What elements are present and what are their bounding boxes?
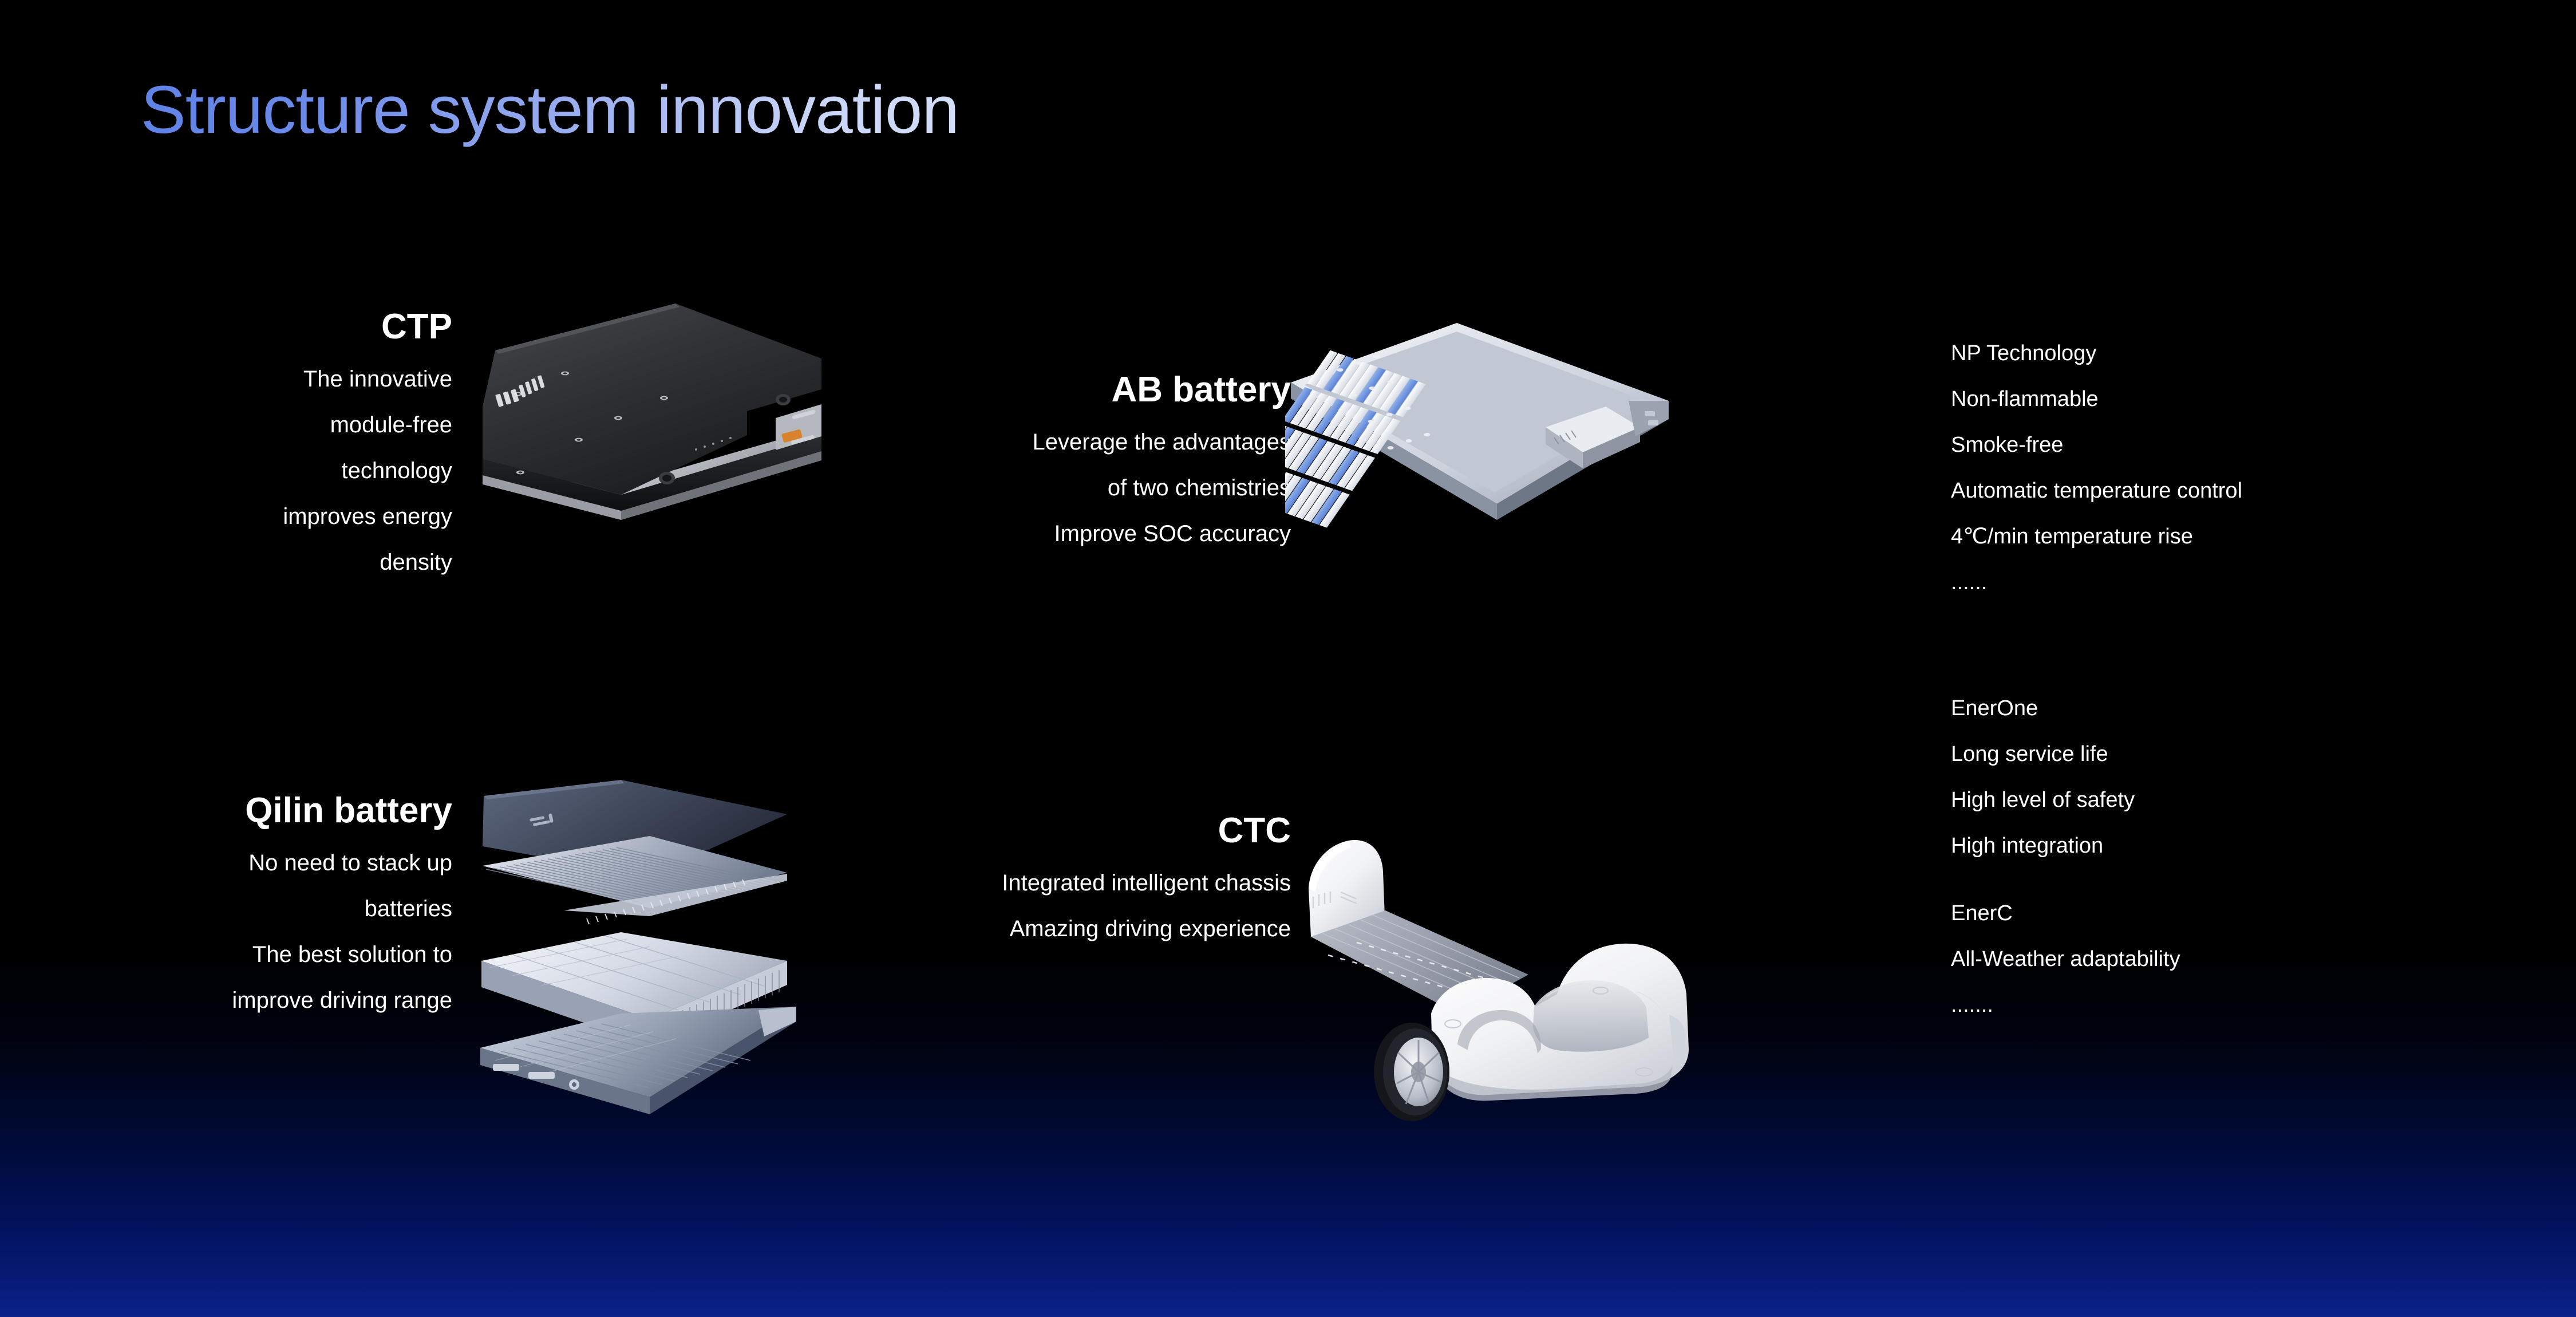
section-ab-battery-line-3: Improve SOC accuracy — [776, 522, 1291, 545]
section-ctc-line-2: Amazing driving experience — [776, 917, 1291, 940]
section-qilin-battery-line-2: batteries — [0, 897, 452, 920]
feature-item: EnerC — [1951, 902, 2180, 924]
feature-item-ellipsis: ...... — [1951, 571, 2242, 593]
section-ctc-heading: CTC — [776, 813, 1291, 849]
feature-item: Automatic temperature control — [1951, 480, 2242, 502]
ctc-chassis-image — [1288, 825, 1700, 1134]
section-ctp-line-5: density — [0, 551, 452, 574]
ctp-battery-pack-image — [478, 303, 821, 550]
section-qilin-battery-line-1: No need to stack up — [0, 851, 452, 874]
feature-item: NP Technology — [1951, 342, 2242, 364]
ab-battery-pack-image — [1285, 315, 1674, 555]
section-qilin-battery-line-4: improve driving range — [0, 989, 452, 1012]
feature-item: High integration — [1951, 835, 2180, 857]
feature-item: 4℃/min temperature rise — [1951, 526, 2242, 547]
page-title: Structure system innovation — [141, 73, 959, 148]
section-ctp-line-4: improves energy — [0, 505, 452, 528]
section-ctc: CTC Integrated intelligent chassis Amazi… — [776, 813, 1291, 940]
feature-item: EnerOne — [1951, 697, 2180, 719]
section-ab-battery-heading: AB battery — [776, 372, 1291, 408]
feature-item-ellipsis: ....... — [1951, 994, 2180, 1016]
section-ab-battery: AB battery Leverage the advantages of tw… — [776, 372, 1291, 545]
feature-item: Non-flammable — [1951, 388, 2242, 410]
feature-list-spacer — [1951, 881, 2180, 902]
section-qilin-battery-line-3: The best solution to — [0, 943, 452, 966]
section-ctc-line-1: Integrated intelligent chassis — [776, 872, 1291, 894]
feature-list-energy-storage: EnerOne Long service life High level of … — [1951, 697, 2180, 1040]
section-ctp-line-3: technology — [0, 459, 452, 482]
section-ctp-line-2: module-free — [0, 413, 452, 436]
section-ctp-heading: CTP — [0, 309, 452, 345]
section-ab-battery-line-2: of two chemistries — [776, 476, 1291, 499]
feature-item: Smoke-free — [1951, 434, 2242, 456]
section-qilin-battery: Qilin battery No need to stack up batter… — [0, 793, 452, 1012]
section-qilin-battery-heading: Qilin battery — [0, 793, 452, 829]
slide-root: Structure system innovation CTP The inno… — [0, 0, 2576, 1317]
feature-item: All-Weather adaptability — [1951, 948, 2180, 970]
feature-item: Long service life — [1951, 743, 2180, 765]
qilin-battery-exploded-image — [478, 779, 810, 1122]
feature-item: High level of safety — [1951, 789, 2180, 811]
section-ctp-line-1: The innovative — [0, 368, 452, 391]
feature-list-np-technology: NP Technology Non-flammable Smoke-free A… — [1951, 342, 2242, 617]
section-ab-battery-line-1: Leverage the advantages — [776, 431, 1291, 454]
section-ctp: CTP The innovative module-free technolog… — [0, 309, 452, 574]
